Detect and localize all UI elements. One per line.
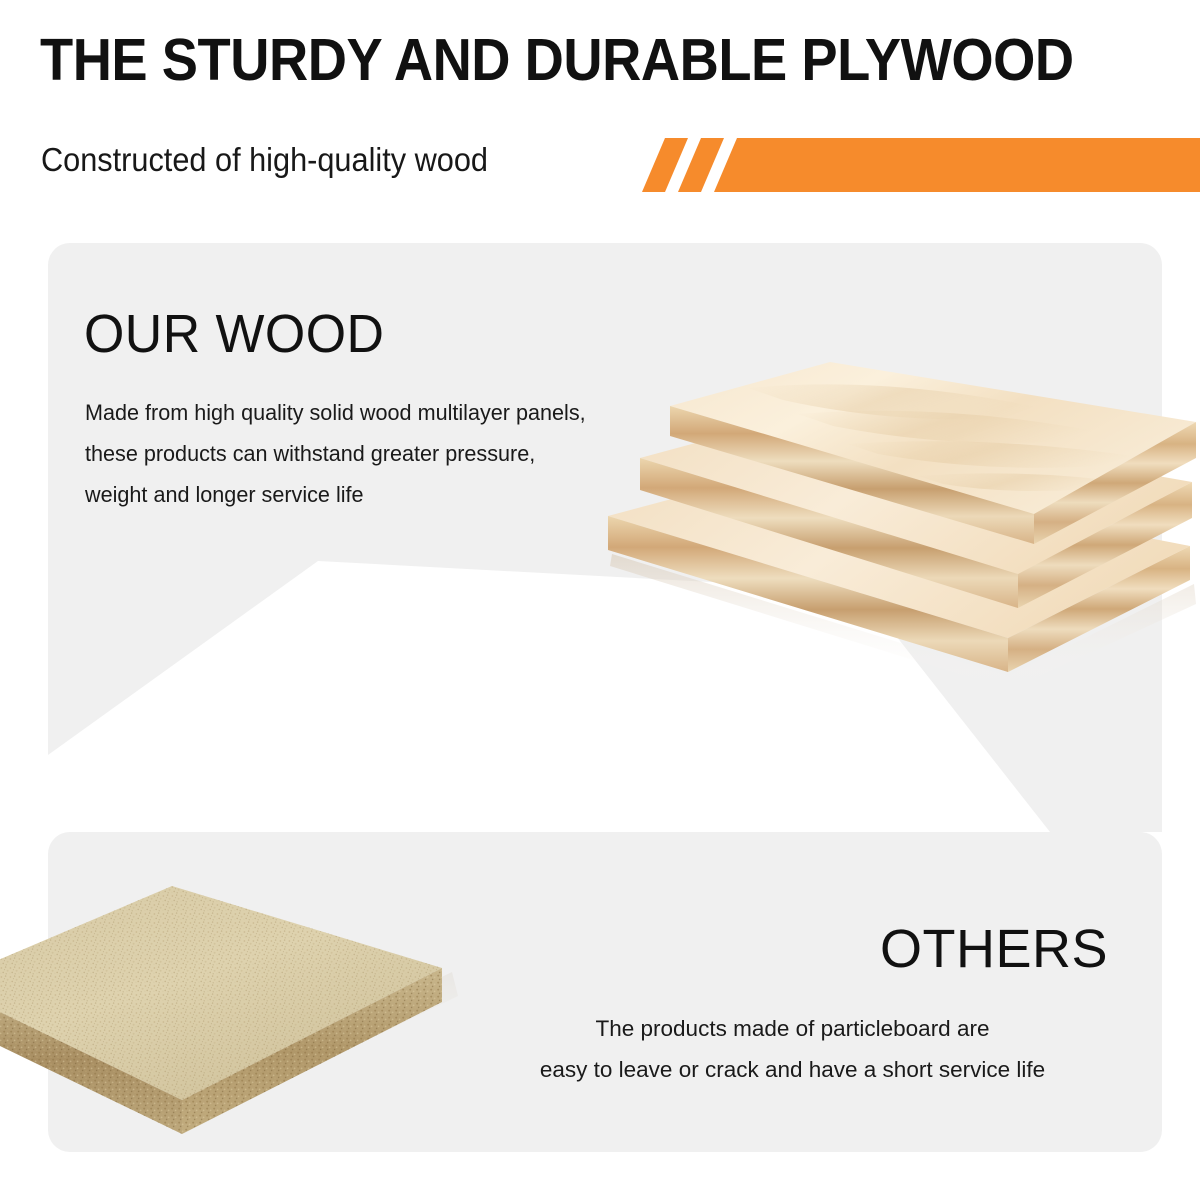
others-body-line-2: easy to leave or crack and have a short …	[470, 1049, 1115, 1090]
orange-stripe-decoration	[600, 130, 1200, 200]
page-title: THE STURDY AND DURABLE PLYWOOD	[40, 30, 1074, 92]
others-body-line-1: The products made of particleboard are	[470, 1008, 1115, 1049]
our-wood-body-line-2: these products can withstand greater pre…	[85, 433, 680, 474]
plywood-stack-image	[598, 318, 1200, 688]
our-wood-body-line-3: weight and longer service life	[85, 474, 680, 515]
our-wood-body-line-1: Made from high quality solid wood multil…	[85, 392, 680, 433]
others-heading: OTHERS	[880, 918, 1108, 980]
others-body: The products made of particleboard are e…	[470, 1008, 1115, 1090]
our-wood-heading: OUR WOOD	[84, 303, 384, 365]
our-wood-body: Made from high quality solid wood multil…	[85, 392, 680, 515]
particleboard-panel-image	[0, 876, 482, 1166]
page-subtitle: Constructed of high-quality wood	[41, 142, 488, 178]
infographic-stage: THE STURDY AND DURABLE PLYWOOD Construct…	[0, 0, 1200, 1200]
